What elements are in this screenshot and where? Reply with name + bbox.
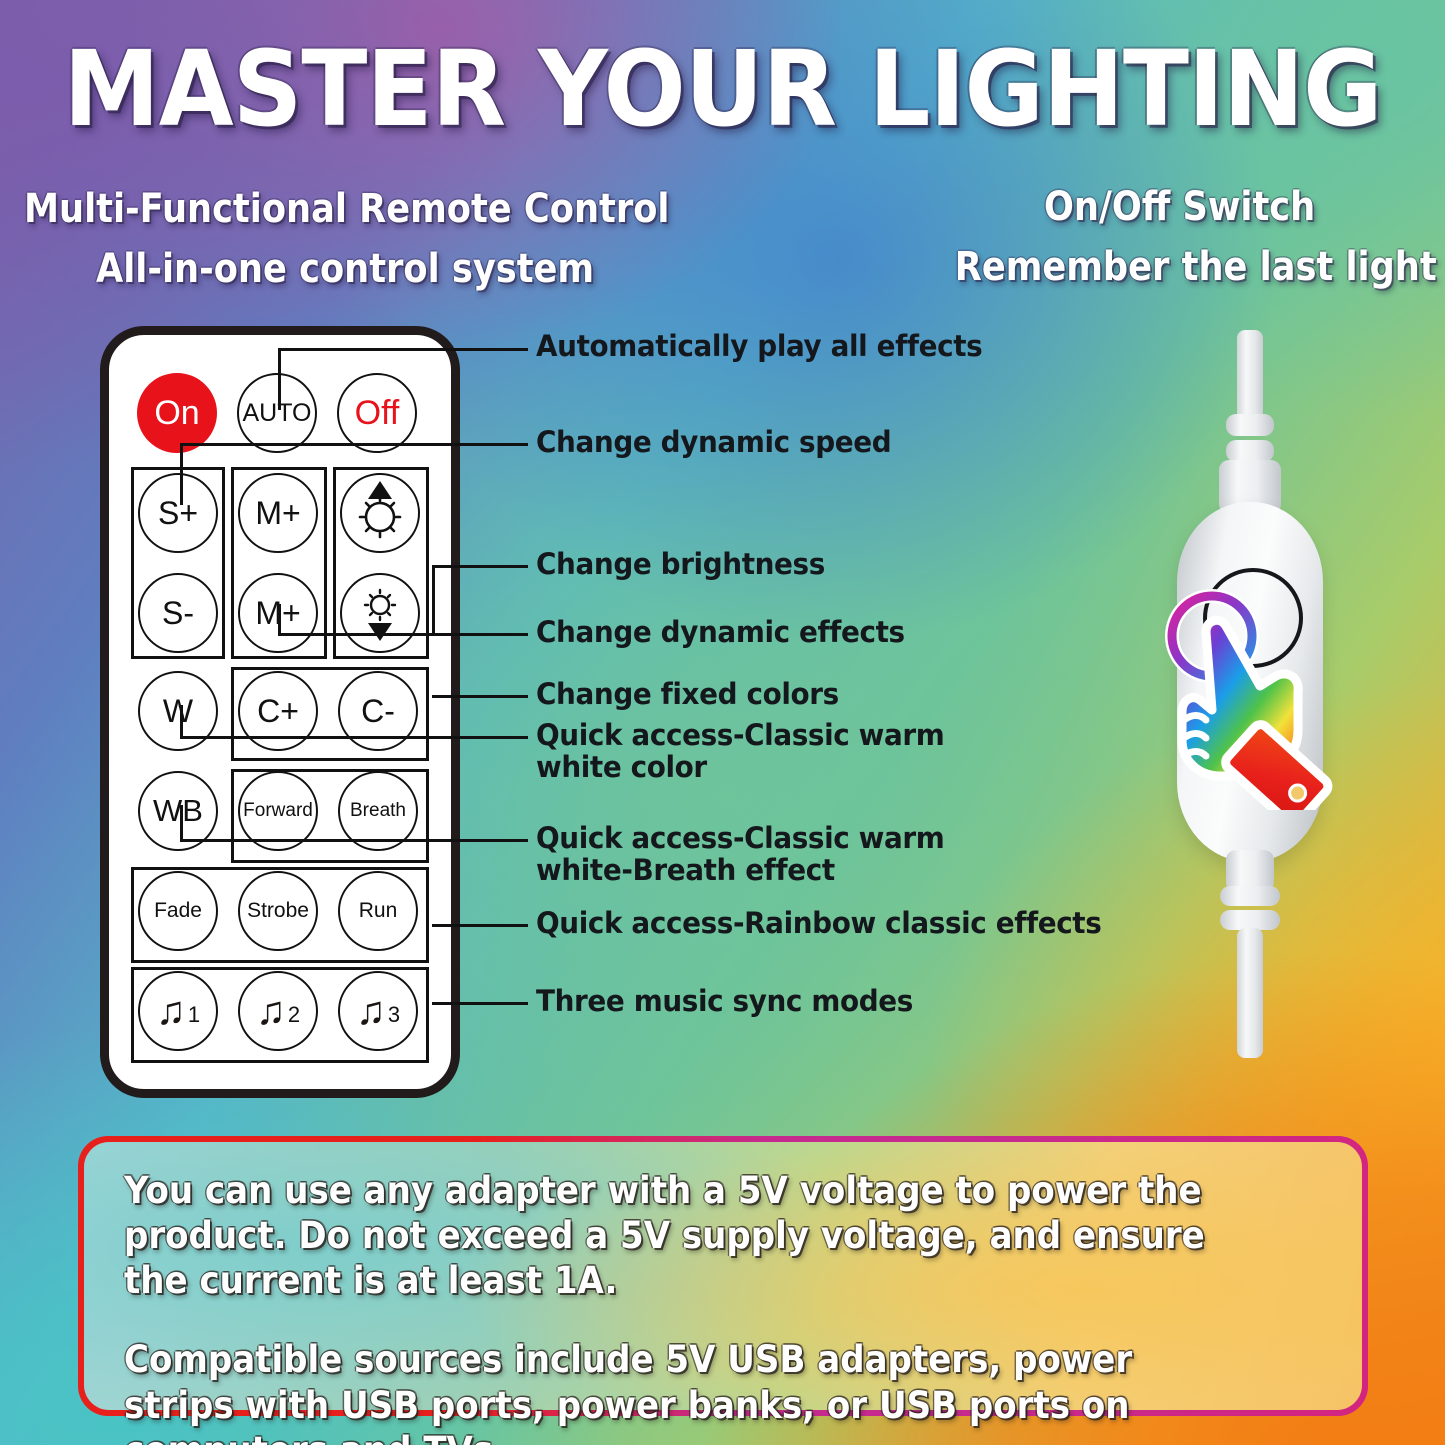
leader-line-warmbreath-vertical xyxy=(180,805,183,839)
music-note-icon: ♫ xyxy=(356,991,386,1031)
music-note-icon: ♫ xyxy=(256,991,286,1031)
subtitle-left-line1: Multi-Functional Remote Control xyxy=(24,186,669,232)
remote-button-brightness-down[interactable] xyxy=(340,573,420,653)
remote-button-strobe[interactable]: Strobe xyxy=(238,871,318,951)
brightness-up-icon xyxy=(344,475,416,552)
power-note-paragraph-2: Compatible sources include 5V USB adapte… xyxy=(124,1337,1226,1445)
remote-button-off[interactable]: Off xyxy=(337,373,417,453)
switch-strain-relief-top2 xyxy=(1226,440,1274,462)
leader-line-fixedcolors xyxy=(432,695,528,698)
leader-line-warmbreath xyxy=(180,839,528,842)
remote-button-run[interactable]: Run xyxy=(338,871,418,951)
leader-line-effects xyxy=(278,633,528,636)
switch-strain-relief-bottom2 xyxy=(1220,910,1280,930)
music-mode-number: 3 xyxy=(388,1002,400,1028)
switch-cable-top xyxy=(1237,330,1263,426)
brightness-down-icon xyxy=(344,575,416,652)
remote-button-music-2[interactable]: ♫ 2 xyxy=(238,971,318,1051)
callout-label-speed: Change dynamic speed xyxy=(536,426,891,458)
leader-line-music xyxy=(432,1002,528,1005)
page-title: MASTER YOUR LIGHTING xyxy=(51,28,1395,150)
leader-line-brightness-vertical xyxy=(432,565,435,633)
music-mode-number: 1 xyxy=(188,1002,200,1028)
leader-line-warmwhite-vertical xyxy=(180,705,183,737)
leader-line-warmwhite xyxy=(180,736,528,739)
leader-line-speed xyxy=(180,443,528,446)
music-mode-number: 2 xyxy=(288,1002,300,1028)
remote-button-speed-down[interactable]: S- xyxy=(138,573,218,653)
switch-strain-relief-bottom xyxy=(1220,886,1280,906)
remote-button-white[interactable]: W xyxy=(138,671,218,751)
inline-on-off-switch xyxy=(1120,330,1380,1060)
callout-label-effects: Change dynamic effects xyxy=(536,616,905,648)
switch-strain-relief-top xyxy=(1226,414,1274,436)
power-requirements-inner: You can use any adapter with a 5V voltag… xyxy=(84,1142,1362,1410)
subtitle-right-line1: On/Off Switch xyxy=(1044,184,1315,230)
callout-label-rainbow: Quick access-Rainbow classic effects xyxy=(536,907,1101,939)
leader-line-speed-vertical xyxy=(180,443,183,505)
callout-label-fixedcolors: Change fixed colors xyxy=(536,678,839,710)
callout-label-warmbreath: Quick access-Classic warm white-Breath e… xyxy=(536,822,944,887)
remote-control-body: On AUTO Off S+ S- M+ M+ xyxy=(100,326,460,1098)
remote-button-fade[interactable]: Fade xyxy=(138,871,218,951)
callout-label-auto: Automatically play all effects xyxy=(536,330,982,362)
music-note-icon: ♫ xyxy=(156,991,186,1031)
remote-button-mode-up[interactable]: M+ xyxy=(238,473,318,553)
callout-label-music: Three music sync modes xyxy=(536,985,913,1017)
remote-button-music-3[interactable]: ♫ 3 xyxy=(338,971,418,1051)
power-requirements-box: You can use any adapter with a 5V voltag… xyxy=(78,1136,1368,1416)
infographic-canvas: MASTER YOUR LIGHTING Multi-Functional Re… xyxy=(0,0,1445,1445)
power-note-paragraph-1: You can use any adapter with a 5V voltag… xyxy=(124,1168,1226,1303)
remote-button-color-down[interactable]: C- xyxy=(338,671,418,751)
callout-label-brightness: Change brightness xyxy=(536,548,825,580)
switch-cable-bottom xyxy=(1237,928,1263,1058)
leader-line-auto-vertical xyxy=(278,348,281,410)
subtitle-left-line2: All-in-one control system xyxy=(96,246,594,292)
leader-line-rainbow xyxy=(432,924,528,927)
leader-line-effects-vertical xyxy=(278,604,281,633)
subtitle-right-line2: Remember the last light xyxy=(955,244,1437,290)
leader-line-auto-top xyxy=(278,348,528,351)
remote-button-auto[interactable]: AUTO xyxy=(237,373,317,453)
remote-button-color-up[interactable]: C+ xyxy=(238,671,318,751)
remote-button-speed-up[interactable]: S+ xyxy=(138,473,218,553)
leader-line-brightness xyxy=(432,565,528,568)
remote-button-brightness-up[interactable] xyxy=(340,473,420,553)
remote-button-on[interactable]: On xyxy=(137,373,217,453)
callout-label-warmwhite: Quick access-Classic warm white color xyxy=(536,719,944,784)
remote-button-music-1[interactable]: ♫ 1 xyxy=(138,971,218,1051)
rainbow-hand-touch-icon xyxy=(1148,580,1364,810)
